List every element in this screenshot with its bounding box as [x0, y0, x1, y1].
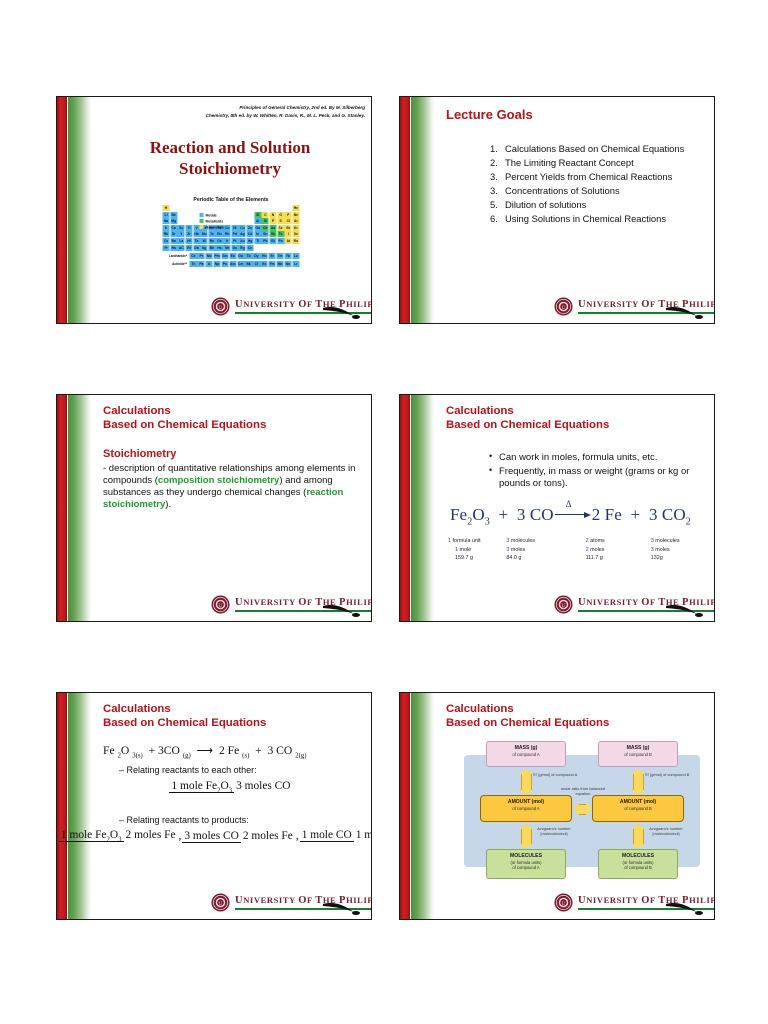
svg-text:U: U [562, 306, 566, 311]
heading-line-2: Based on Chemical Equations [103, 717, 266, 731]
arrow-molar-ratio-icon [579, 804, 586, 815]
swoosh-icon [323, 299, 363, 319]
heading-line-2: Based on Chemical Equations [103, 419, 266, 433]
slide-4: Calculations Based on Chemical Equations… [399, 394, 715, 622]
up-seal-icon: U [211, 893, 230, 912]
arrow-label-molar-ratio: molar ratio from balanced equation [560, 787, 606, 797]
fraction-denominator: 3 moles CO [234, 780, 292, 792]
fraction: 1 mole Fe2O32 moles Fe [59, 829, 178, 843]
list-item: 6.Using Solutions in Chemical Reactions [490, 213, 706, 226]
heading-line-2: Based on Chemical Equations [446, 717, 609, 731]
up-seal-icon: U [211, 595, 230, 614]
swoosh-icon [666, 895, 706, 915]
slide-heading: Calculations Based on Chemical Equations [446, 405, 609, 433]
periodic-table-legend: Metals Metalloids Nonmetals [200, 213, 224, 231]
fraction-denominator: 2 moles Fe [241, 830, 295, 842]
slide-stripe [400, 97, 434, 323]
heading-line-1: Calculations [446, 703, 609, 717]
swoosh-icon [323, 597, 363, 617]
svg-text:U: U [219, 306, 223, 311]
list-item: 3.Percent Yields from Chemical Reactions [490, 171, 706, 184]
heading-line-1: Calculations [446, 405, 609, 419]
heading-line-2: Based on Chemical Equations [446, 419, 609, 433]
heading-line-1: Calculations [103, 405, 266, 419]
balanced-equation: Fe2O3 + 3 COΔ2 Fe + 3 CO2 [450, 505, 710, 527]
periodic-table-image: Periodic Table of the Elements Metals Me… [163, 197, 300, 278]
fraction-numerator: 1 mole Fe2O3 [59, 829, 124, 842]
balanced-equation: Fe 2O 3(s) + 3CO (g) ⟶ 2 Fe (s) + 3 CO 2… [103, 743, 369, 759]
footer-branding: U UNIVERSITY OF THE PHILIPPINES [211, 892, 365, 914]
fraction-denominator: 1 mole CO2 [354, 829, 372, 841]
table-column: 3 molecules3 moles132g [651, 537, 708, 563]
footer-branding: U UNIVERSITY OF THE PHILIPPINES [211, 296, 365, 318]
footer-branding: U UNIVERSITY OF THE PHILIPPINES [554, 296, 708, 318]
arrow-label-avogadro-b: Avogadro's number (molecules/mol) [644, 827, 688, 837]
fraction: 1 mole CO1 mole CO2 [300, 829, 372, 843]
slide-heading: Lecture Goals [446, 107, 533, 123]
footer-branding: U UNIVERSITY OF THE PHILIPPINES [554, 594, 708, 616]
fraction-numerator: 3 moles CO [182, 830, 240, 843]
amount-a-box: AMOUNT (mol)of compound A [480, 795, 572, 822]
molecules-b-box: MOLECULES(or formula units)of compound B [598, 849, 678, 879]
arrow-amount-molecules-b-icon [633, 829, 644, 844]
slide-stripe [57, 395, 91, 621]
slide-stripe [57, 97, 91, 323]
arrow-mass-amount-b-icon [633, 774, 644, 790]
fraction-denominator: 2 moles Fe [124, 829, 178, 841]
stoichiometry-flow-diagram: MASS (g)of compound A MASS (g)of compoun… [456, 741, 708, 881]
swoosh-icon [666, 597, 706, 617]
fraction-numerator: 1 mole Fe2O3 [169, 780, 234, 793]
svg-text:U: U [219, 604, 223, 609]
list-item: 3.Concentrations of Solutions [490, 185, 706, 198]
footer-branding: U UNIVERSITY OF THE PHILIPPINES [554, 892, 708, 914]
credit-block: Principles of General Chemistry, 2nd ed.… [127, 104, 365, 120]
title-line-2: Stoichiometry [95, 158, 365, 179]
highlight-composition: composition stoichiometry [158, 475, 279, 486]
swoosh-icon [666, 299, 706, 319]
stoichiometry-table: 1 formula unit1 mole159.7 g 3 molecules3… [448, 537, 708, 563]
definition-paragraph: - description of quantitative relationsh… [103, 463, 363, 511]
actinide-label: Actinide** [163, 262, 190, 266]
slide-6: Calculations Based on Chemical Equations… [399, 692, 715, 920]
svg-text:U: U [562, 604, 566, 609]
slide-3: Calculations Based on Chemical Equations… [56, 394, 372, 622]
up-seal-icon: U [554, 595, 573, 614]
mass-a-box: MASS (g)of compound A [486, 741, 566, 767]
fraction: 1 mole Fe2O33 moles CO [169, 780, 292, 794]
list-item: Can work in moles, formula units, etc. [488, 452, 706, 464]
ratio-reactants: 1 mole Fe2O33 moles CO [91, 778, 371, 796]
slide-heading: Calculations Based on Chemical Equations [103, 405, 266, 433]
amount-b-box: AMOUNT (mol)of compound B [592, 795, 684, 822]
list-item: Frequently, in mass or weight (grams or … [488, 466, 706, 491]
slide-1: Principles of General Chemistry, 2nd ed.… [56, 96, 372, 324]
table-column: 1 formula unit1 mole159.7 g [448, 537, 506, 563]
slide-stripe [400, 693, 434, 919]
slide-heading: Calculations Based on Chemical Equations [103, 703, 266, 731]
slide-5: Calculations Based on Chemical Equations… [56, 692, 372, 920]
credit-line-1: Principles of General Chemistry, 2nd ed.… [127, 104, 365, 112]
table-column: 3 molecules3 moles84.0 g [506, 537, 563, 563]
title-line-1: Reaction and Solution [95, 137, 365, 158]
mass-b-box: MASS (g)of compound B [598, 741, 678, 767]
list-item: 5.Dilution of solutions [490, 199, 706, 212]
list-item: 1.Calculations Based on Chemical Equatio… [490, 143, 706, 156]
list-item: 2.The Limiting Reactant Concept [490, 157, 706, 170]
heading-line-1: Calculations [103, 703, 266, 717]
bullet-list: Can work in moles, formula units, etc. F… [448, 452, 706, 493]
arrow-label-mass-a: ℳ (g/mol) of compound A [532, 773, 578, 778]
slide-2: Lecture Goals 1.Calculations Based on Ch… [399, 96, 715, 324]
svg-text:U: U [562, 902, 566, 907]
ratio-products: 1 mole Fe2O32 moles Fe , 3 moles CO2 mol… [105, 829, 365, 843]
table-column: 2 atoms2 moles111.7 g [586, 537, 643, 563]
page-title: Reaction and Solution Stoichiometry [95, 137, 365, 180]
swoosh-icon [323, 895, 363, 915]
term-stoichiometry: Stoichiometry [103, 448, 176, 460]
credit-line-2: Chemistry, 8th ed. by W. Whitten, R. Dav… [127, 112, 365, 120]
lanthanide-label: Lanthanide* [163, 254, 190, 258]
slide-heading: Calculations Based on Chemical Equations [446, 703, 609, 731]
fraction: 3 moles CO2 moles Fe [182, 830, 294, 842]
up-seal-icon: U [211, 297, 230, 316]
lead-relating-products: – Relating reactants to products: [119, 815, 249, 825]
arrow-mass-amount-a-icon [521, 774, 532, 790]
handout-page: Principles of General Chemistry, 2nd ed.… [0, 0, 768, 1024]
arrow-label-avogadro-a: Avogadro's number (molecules/mol) [532, 827, 576, 837]
molecules-a-box: MOLECULES(or formula units)of compound A [486, 849, 566, 879]
arrow-amount-molecules-a-icon [521, 829, 532, 844]
up-seal-icon: U [554, 297, 573, 316]
slide-stripe [400, 395, 434, 621]
reaction-arrow-icon: Δ [555, 508, 591, 518]
fraction-numerator: 1 mole CO [300, 829, 354, 842]
up-seal-icon: U [554, 893, 573, 912]
svg-text:U: U [219, 902, 223, 907]
footer-branding: U UNIVERSITY OF THE PHILIPPINES [211, 594, 365, 616]
lecture-goals-list: 1.Calculations Based on Chemical Equatio… [450, 143, 706, 227]
slide-stripe [57, 693, 91, 919]
arrow-label-mass-b: ℳ (g/mol) of compound B [644, 773, 690, 778]
periodic-table-title: Periodic Table of the Elements [163, 197, 300, 203]
lead-relating-reactants: – Relating reactants to each other: [119, 765, 257, 775]
